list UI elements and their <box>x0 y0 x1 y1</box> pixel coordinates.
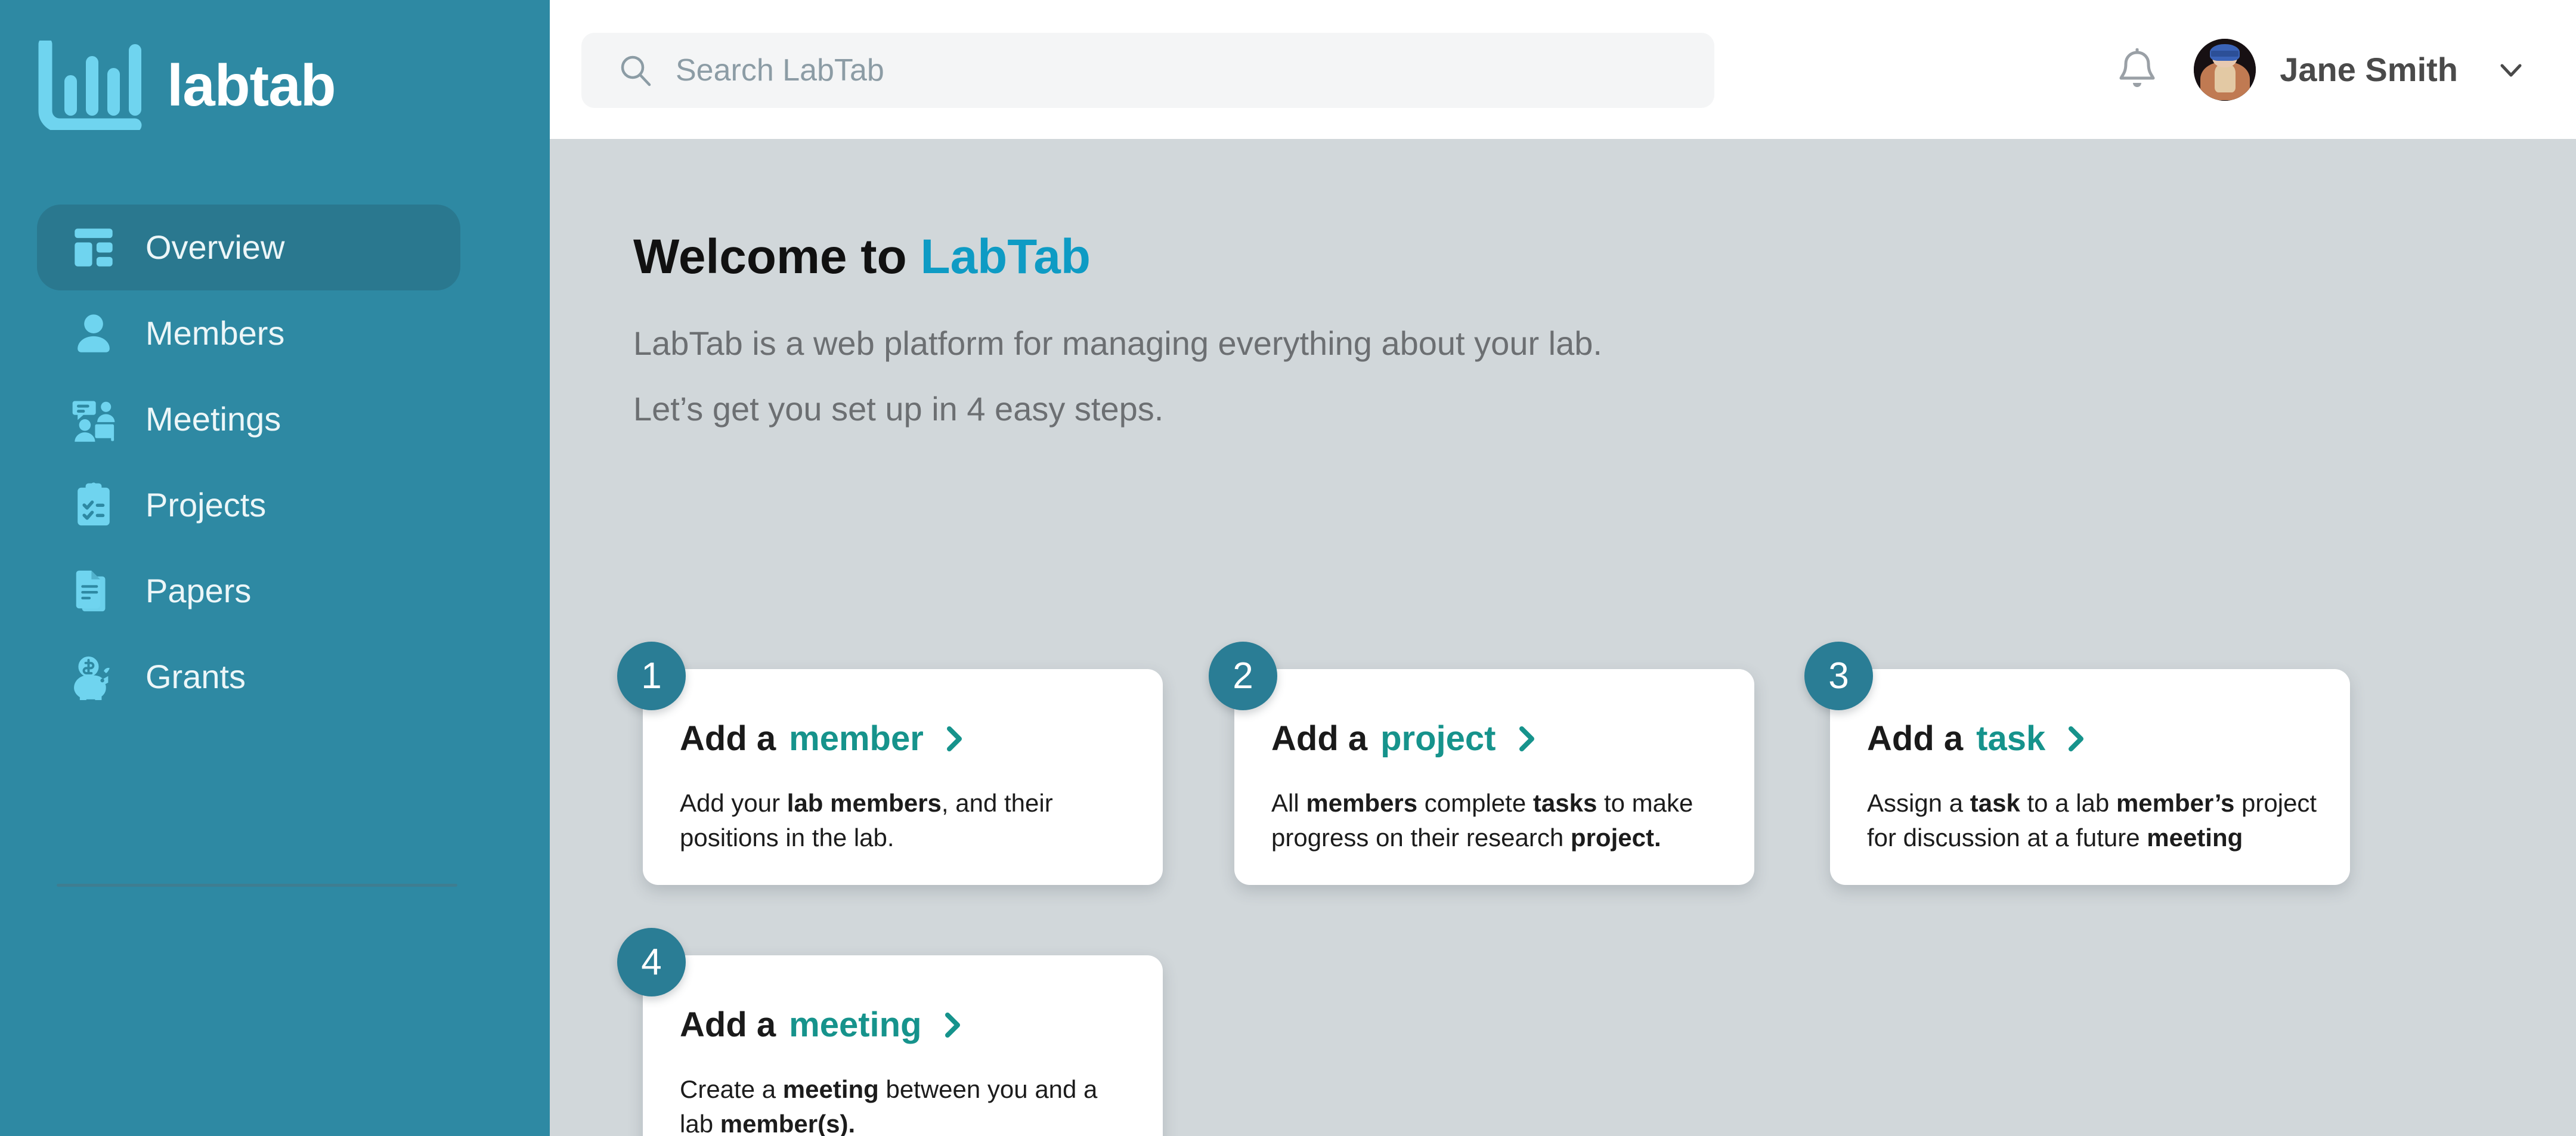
search-icon <box>618 53 653 88</box>
step-card-title: Add aproject <box>1271 722 1537 756</box>
search-input[interactable]: Search LabTab <box>581 33 1714 108</box>
sidebar-item-label: Members <box>145 317 284 350</box>
header-actions: Jane Smith <box>2104 0 2527 139</box>
step-card-description: Add your lab members, and their position… <box>680 786 1137 855</box>
user-name: Jane Smith <box>2280 53 2458 86</box>
app-root: labtab Overview <box>0 0 2576 1136</box>
step-badge: 2 <box>1209 642 1277 710</box>
page-subtitle-line-1: LabTab is a web platform for managing ev… <box>633 324 1602 362</box>
sidebar-item-label: Overview <box>145 231 284 264</box>
chevron-right-icon[interactable] <box>2066 725 2086 753</box>
chevron-down-icon[interactable] <box>2495 54 2527 86</box>
piggy-bank-dollar-icon <box>70 654 117 700</box>
user-menu[interactable]: Jane Smith <box>2194 39 2527 101</box>
step-card-add-task[interactable]: 3 Add atask Assign a task to a lab membe… <box>1830 669 2350 885</box>
chevron-right-icon[interactable] <box>944 725 964 753</box>
sidebar-item-label: Papers <box>145 574 251 608</box>
step-title-accent: meeting <box>789 1008 921 1042</box>
sidebar-item-grants[interactable]: Grants <box>0 634 460 720</box>
notifications-button[interactable] <box>2104 37 2170 103</box>
sidebar-item-label: Projects <box>145 488 266 522</box>
onboarding-steps: 1 Add amember Add your lab members, and … <box>550 139 2576 1136</box>
content-column: Search LabTab <box>550 0 2576 1136</box>
step-title-accent: project <box>1380 722 1496 756</box>
step-badge: 4 <box>617 928 686 996</box>
sidebar-item-members[interactable]: Members <box>0 290 460 376</box>
step-card-title: Add atask <box>1867 722 2086 756</box>
sidebar: labtab Overview <box>0 0 550 1136</box>
meeting-people-icon <box>70 396 117 442</box>
top-header: Search LabTab <box>550 0 2576 139</box>
step-title-prefix: Add a <box>1271 722 1367 756</box>
page-title-brand: LabTab <box>920 230 1090 284</box>
person-icon <box>70 310 117 357</box>
step-card-add-project[interactable]: 2 Add aproject All members complete task… <box>1234 669 1754 885</box>
page-title: Welcome to LabTab <box>633 233 1091 281</box>
dashboard-grid-icon <box>70 224 117 271</box>
sidebar-nav: Overview Members <box>0 205 550 720</box>
step-card-description: Create a meeting between you and a lab m… <box>680 1072 1137 1136</box>
page-subtitle: LabTab is a web platform for managing ev… <box>633 311 1602 442</box>
chevron-right-icon[interactable] <box>1516 725 1537 753</box>
page-subtitle-line-2: Let’s get you set up in 4 easy steps. <box>633 390 1163 428</box>
step-title-accent: task <box>1976 722 2045 756</box>
step-card-add-member[interactable]: 1 Add amember Add your lab members, and … <box>643 669 1163 885</box>
step-title-prefix: Add a <box>1867 722 1963 756</box>
bar-chart-logo-icon <box>37 41 142 130</box>
step-card-description: Assign a task to a lab member’s project … <box>1867 786 2324 855</box>
step-title-prefix: Add a <box>680 1008 776 1042</box>
document-stack-icon <box>70 568 117 614</box>
avatar <box>2194 39 2256 101</box>
step-card-description: All members complete tasks to make progr… <box>1271 786 1728 855</box>
brand-name: labtab <box>167 56 336 114</box>
brand[interactable]: labtab <box>0 35 550 136</box>
sidebar-item-meetings[interactable]: Meetings <box>0 376 460 462</box>
page-title-prefix: Welcome to <box>633 230 920 284</box>
sidebar-item-overview[interactable]: Overview <box>37 205 460 290</box>
main-content: Welcome to LabTab LabTab is a web platfo… <box>550 139 2576 1136</box>
clipboard-check-icon <box>70 482 117 528</box>
sidebar-item-projects[interactable]: Projects <box>0 462 460 548</box>
step-title-accent: member <box>789 722 924 756</box>
step-badge: 3 <box>1804 642 1873 710</box>
sidebar-item-label: Meetings <box>145 403 281 436</box>
sidebar-divider <box>57 884 457 887</box>
sidebar-item-papers[interactable]: Papers <box>0 548 460 634</box>
search-placeholder: Search LabTab <box>676 55 884 86</box>
step-badge: 1 <box>617 642 686 710</box>
step-card-title: Add ameeting <box>680 1008 962 1042</box>
step-card-title: Add amember <box>680 722 964 756</box>
step-title-prefix: Add a <box>680 722 776 756</box>
step-card-add-meeting[interactable]: 4 Add ameeting Create a meeting between … <box>643 955 1163 1136</box>
chevron-right-icon[interactable] <box>942 1011 962 1039</box>
sidebar-item-label: Grants <box>145 660 246 694</box>
bell-icon <box>2119 48 2156 91</box>
